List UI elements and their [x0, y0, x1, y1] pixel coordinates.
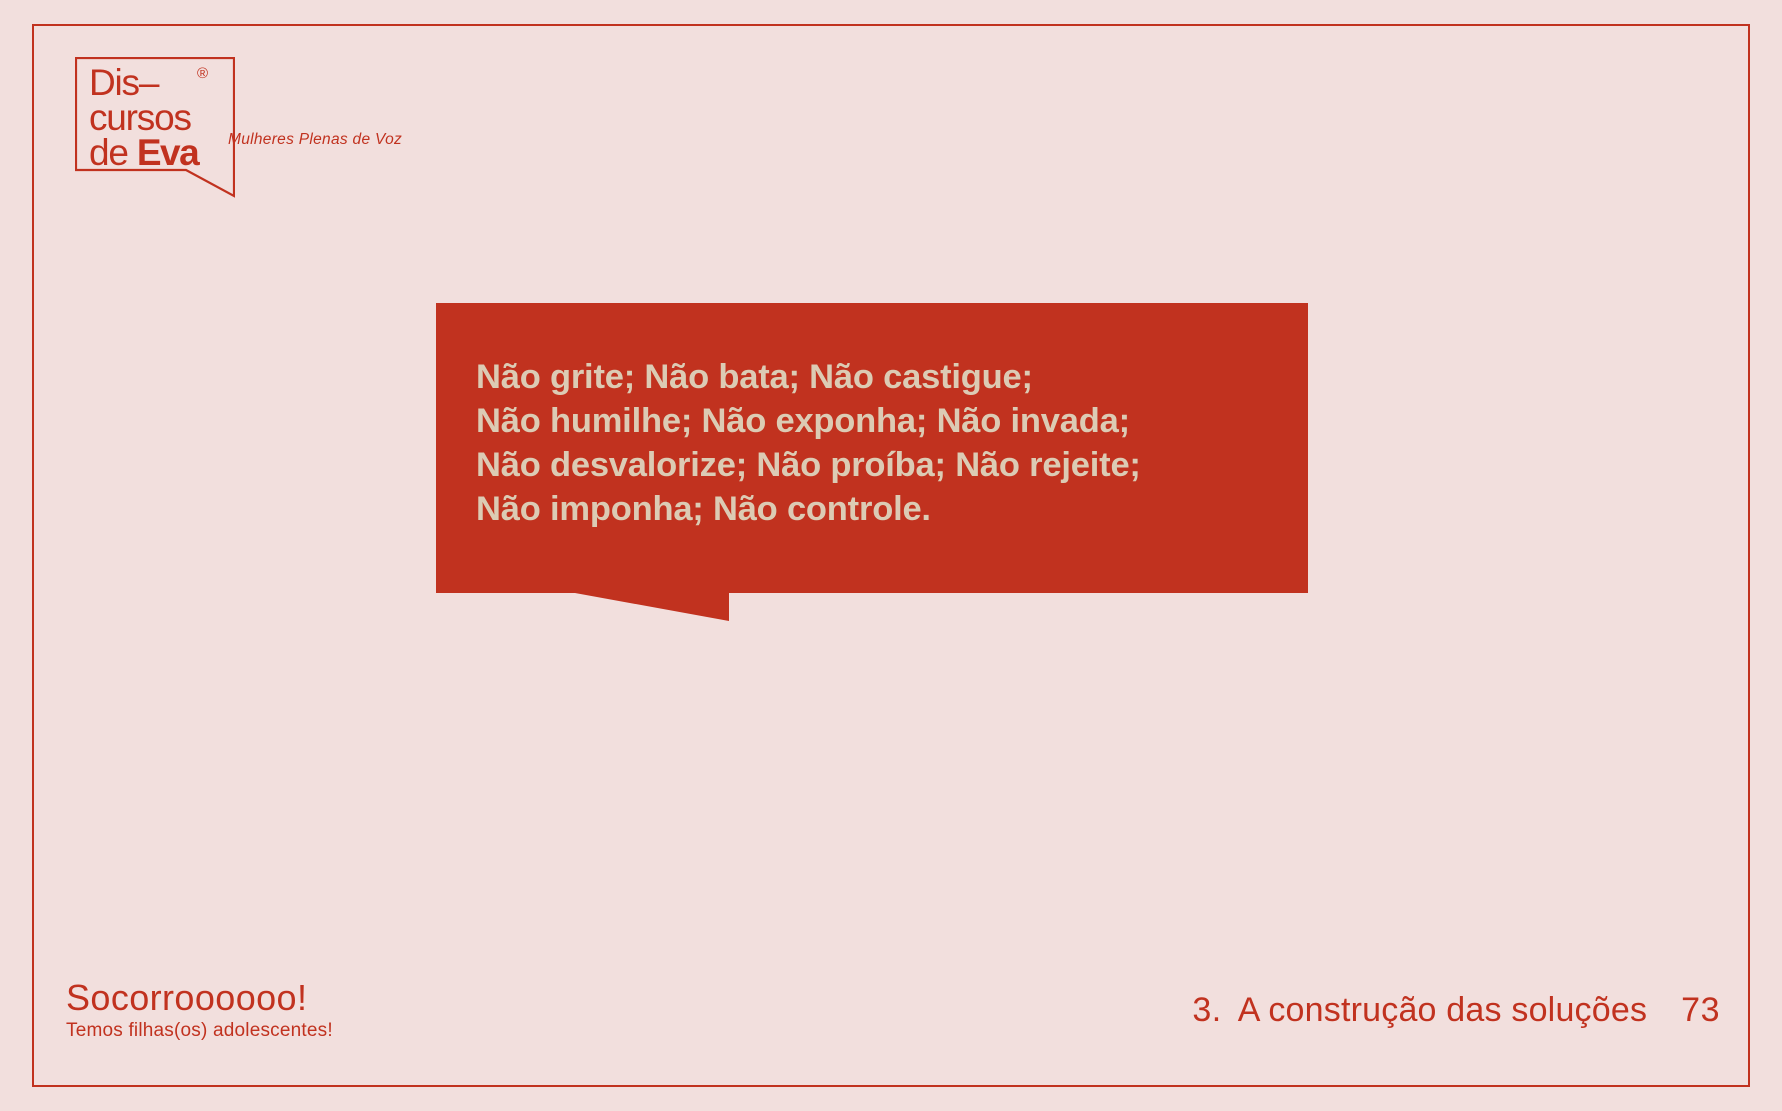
quote-line-4: Não imponha; Não controle. [476, 487, 1262, 531]
chapter-number: 3. [1192, 991, 1221, 1030]
logo-line-2: cursos [89, 100, 229, 135]
page-number: 73 [1681, 991, 1720, 1030]
footer-exclamation-title: Socorroooooo! [66, 979, 333, 1017]
footer-left-block: Socorroooooo! Temos filhas(os) adolescen… [66, 979, 333, 1043]
logo-line-3: de Eva [89, 135, 229, 170]
footer-subtitle: Temos filhas(os) adolescentes! [66, 1019, 333, 1043]
slide-canvas: Dis– cursos de Eva ® Mulheres Plenas de … [0, 0, 1782, 1111]
quote-text: Não grite; Não bata; Não castigue; Não h… [476, 355, 1262, 531]
quote-box: Não grite; Não bata; Não castigue; Não h… [436, 303, 1308, 593]
quote-line-2: Não humilhe; Não exponha; Não invada; [476, 399, 1262, 443]
brand-logo[interactable]: Dis– cursos de Eva ® [75, 57, 235, 202]
quote-speech-bubble: Não grite; Não bata; Não castigue; Não h… [436, 303, 1308, 593]
quote-line-3: Não desvalorize; Não proíba; Não rejeite… [476, 443, 1262, 487]
registered-trademark-icon: ® [197, 65, 208, 82]
footer-right-block: 3. A construção das soluções 73 [1192, 991, 1720, 1030]
quote-bubble-tail [575, 593, 729, 621]
brand-tagline: Mulheres Plenas de Voz [228, 131, 402, 149]
logo-line-3-prefix: de [89, 132, 137, 173]
logo-brand-eva: Eva [137, 132, 198, 173]
quote-line-1: Não grite; Não bata; Não castigue; [476, 355, 1262, 399]
chapter-title: A construção das soluções [1238, 991, 1647, 1030]
